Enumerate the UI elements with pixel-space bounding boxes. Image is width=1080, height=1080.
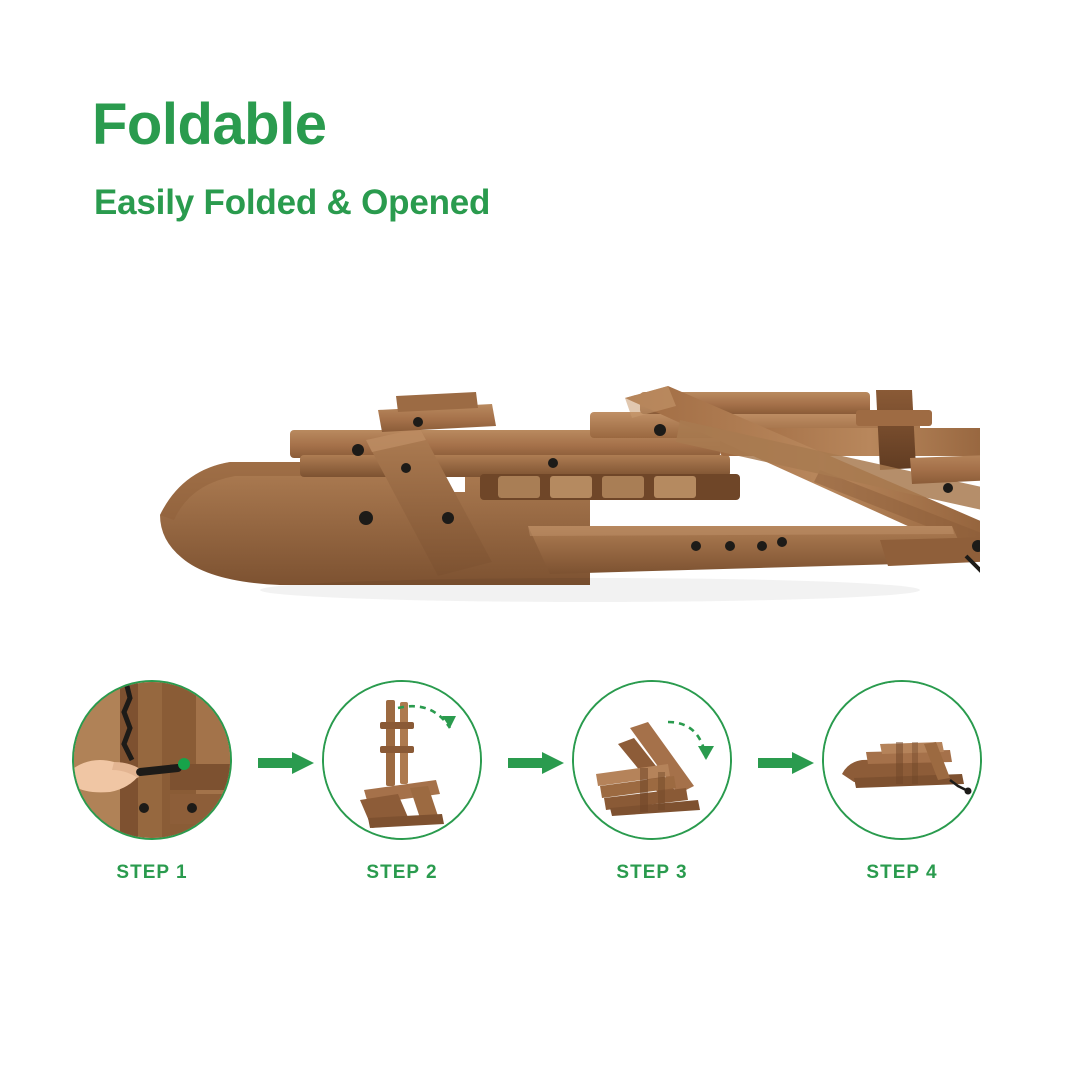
step-1: STEP 1 bbox=[72, 680, 232, 910]
infographic-page: Foldable Easily Folded & Opened bbox=[0, 0, 1080, 1080]
hero-product-image bbox=[120, 350, 980, 650]
arrow-step-1-to-2 bbox=[258, 752, 314, 774]
page-title: Foldable bbox=[92, 96, 326, 154]
page-subtitle: Easily Folded & Opened bbox=[94, 185, 490, 220]
step-3: STEP 3 bbox=[572, 680, 732, 910]
step-4: STEP 4 bbox=[822, 680, 982, 910]
arrow-step-3-to-4 bbox=[758, 752, 814, 774]
arrow-step-2-to-3 bbox=[508, 752, 564, 774]
step-3-label: STEP 3 bbox=[572, 862, 732, 884]
step-2-label: STEP 2 bbox=[322, 862, 482, 884]
step-4-label: STEP 4 bbox=[822, 862, 982, 884]
step-4-illustration bbox=[822, 680, 982, 840]
step-3-illustration bbox=[572, 680, 732, 840]
step-2: STEP 2 bbox=[322, 680, 482, 910]
step-1-label: STEP 1 bbox=[72, 862, 232, 884]
step-2-illustration bbox=[322, 680, 482, 840]
step-1-illustration bbox=[72, 680, 232, 840]
steps-strip: STEP 1 bbox=[60, 680, 1020, 930]
